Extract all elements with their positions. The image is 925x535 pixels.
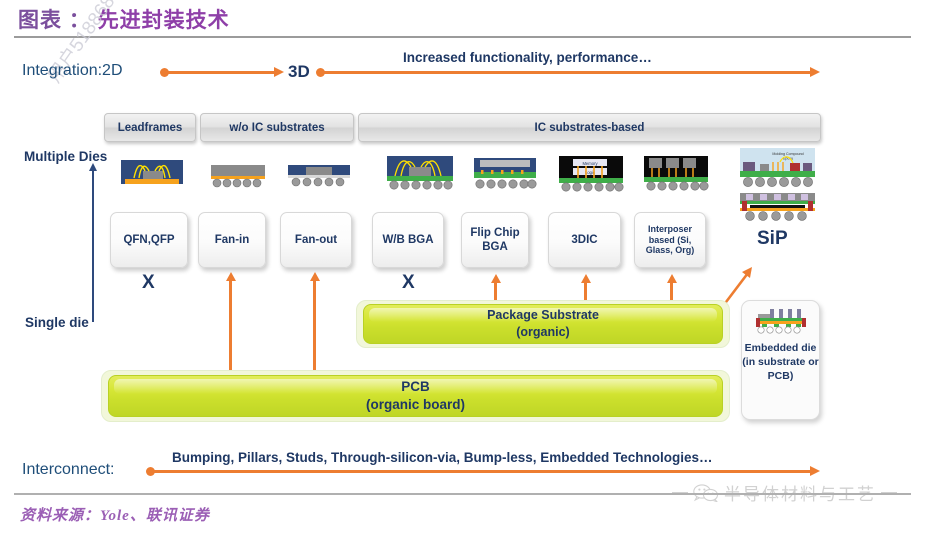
pcb-line1: PCB	[401, 378, 430, 396]
package-substrate-line2: (organic)	[516, 324, 569, 341]
package-card-fan-out[interactable]: Fan-out	[280, 212, 352, 268]
category-bar-leadframes[interactable]: Leadframes	[104, 113, 196, 142]
3dic-stack-cross-section-icon: Memory Logic	[557, 156, 625, 192]
top-caption: Increased functionality, performance…	[403, 50, 652, 65]
embedded-die-line3: PCB)	[742, 369, 818, 383]
package-card-wb-bga[interactable]: W/B BGA	[372, 212, 444, 268]
category-label: IC substrates-based	[535, 122, 645, 134]
package-card-label: Interposer based (Si, Glass, Org)	[637, 224, 703, 257]
arrow-fan-out-head	[310, 272, 320, 281]
interposer-cross-section-icon	[642, 156, 710, 192]
category-bar-wo-ic-substrates[interactable]: w/o IC substrates	[200, 113, 354, 142]
axis-3d-forward-arrowhead	[810, 67, 820, 77]
category-label: w/o IC substrates	[229, 122, 324, 134]
category-label: Leadframes	[118, 122, 183, 134]
package-card-flip-chip-bga[interactable]: Flip Chip BGA	[461, 212, 529, 268]
pcb-line2: (organic board)	[366, 396, 465, 414]
page-title-colon: ：	[69, 9, 91, 32]
package-card-label: QFN,QFP	[123, 233, 174, 247]
embedded-die-card[interactable]: Embedded die (in substrate or PCB)	[741, 300, 820, 420]
category-bar-ic-substrates-based[interactable]: IC substrates-based	[358, 113, 821, 142]
package-card-label: Fan-out	[295, 233, 337, 247]
package-card-interposer[interactable]: Interposer based (Si, Glass, Org)	[634, 212, 706, 268]
sip-substrate-cross-section-icon	[740, 193, 815, 225]
page-title-prefix: 图表	[18, 9, 62, 32]
svg-text:Memory: Memory	[582, 161, 598, 166]
sip-label: SiP	[757, 228, 788, 250]
sip-molding-compound-cross-section-icon: Molding Compound Epoxy	[740, 148, 815, 190]
embedded-die-line2: (in substrate or	[742, 355, 818, 369]
package-substrate-box[interactable]: Package Substrate (organic)	[363, 304, 723, 344]
package-card-label: Fan-in	[215, 233, 250, 247]
embedded-die-line1: Embedded die	[742, 341, 818, 355]
interconnect-arrowhead	[810, 466, 820, 476]
interconnect-line	[152, 470, 812, 473]
embedded-die-cross-section-icon	[752, 309, 810, 335]
svg-text:Molding Compound: Molding Compound	[772, 152, 803, 156]
package-card-fan-in[interactable]: Fan-in	[198, 212, 266, 268]
arrow-fan-in-head	[226, 272, 236, 281]
pcb-box[interactable]: PCB (organic board)	[108, 375, 723, 417]
axis-2d-to-3d-arrowhead	[274, 67, 284, 77]
arrow-flip-chip-head	[491, 274, 501, 283]
axis-3d-forward-line	[322, 71, 812, 74]
fan-in-package-cross-section-icon	[209, 164, 267, 190]
axis-2d-to-3d-line	[166, 71, 276, 74]
package-substrate-line1: Package Substrate	[487, 307, 599, 324]
package-card-label: Flip Chip BGA	[464, 226, 526, 254]
page-title: 图表 ： 先进封装技术	[18, 4, 230, 34]
source-note: 资料来源：Yole、联讯证券	[20, 504, 210, 525]
wire-bond-bga-cross-section-icon	[385, 156, 455, 192]
header-divider	[14, 36, 911, 38]
interconnect-caption: Bumping, Pillars, Studs, Through-silicon…	[172, 450, 713, 465]
integration-axis-label: Integration:2D	[22, 62, 123, 80]
arrow-3dic-head	[581, 274, 591, 283]
footer-divider	[14, 493, 911, 495]
page-title-main: 先进封装技术	[98, 9, 230, 32]
package-card-3dic[interactable]: 3DIC	[548, 212, 621, 268]
arrow-fan-in-shaft	[229, 281, 232, 372]
arrow-fan-out-shaft	[313, 281, 316, 372]
package-card-qfn-qfp[interactable]: QFN,QFP	[110, 212, 188, 268]
flip-chip-bga-cross-section-icon	[472, 158, 538, 192]
x-mark-qfn: X	[142, 272, 155, 294]
arrow-interposer-head	[667, 274, 677, 283]
interconnect-label: Interconnect:	[22, 461, 115, 479]
multiple-dies-label: Multiple Dies	[24, 149, 107, 164]
package-card-label: W/B BGA	[382, 233, 433, 247]
embedded-die-text: Embedded die (in substrate or PCB)	[742, 341, 818, 384]
single-die-label: Single die	[25, 315, 89, 330]
x-mark-wb-bga: X	[402, 272, 415, 294]
axis-3d-label: 3D	[288, 62, 310, 82]
fan-out-package-cross-section-icon	[288, 164, 350, 190]
qfn-package-cross-section-icon	[121, 160, 183, 190]
die-axis-line	[92, 170, 94, 322]
package-card-label: 3DIC	[571, 233, 597, 247]
